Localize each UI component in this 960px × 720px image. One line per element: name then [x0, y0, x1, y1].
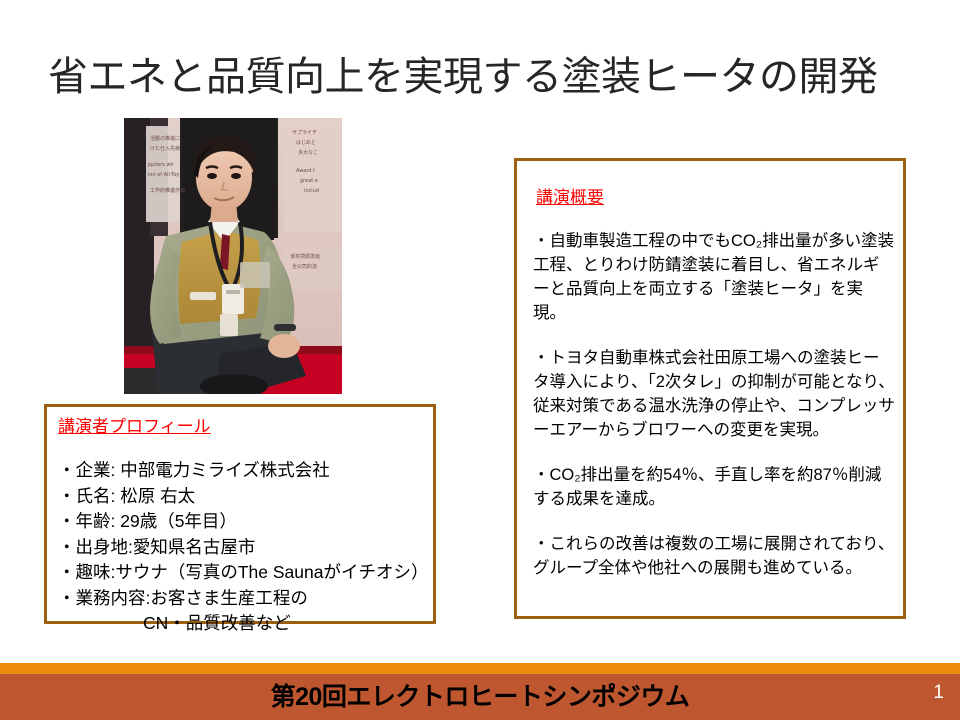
list-item: ・年齢: 29歳（5年目）	[58, 509, 430, 535]
svg-text:ion of All-Toy: ion of All-Toy	[148, 172, 179, 178]
footer-accent-strip	[0, 663, 960, 674]
speaker-photo: サプライチ はじめと 多大なこ Award t great e includ 该…	[124, 118, 342, 394]
list-item: ・業務内容:お客さま生産工程の	[58, 586, 430, 612]
speaker-photo-image: サプライチ はじめと 多大なこ Award t great e includ 该…	[124, 118, 342, 394]
svg-text:はじめと: はじめと	[296, 140, 316, 146]
svg-text:该奖项颁发给: 该奖项颁发给	[290, 253, 320, 260]
footer-title: 第20回エレクトロヒートシンポジウム	[0, 674, 960, 720]
svg-text:Award t: Award t	[296, 168, 315, 174]
list-item: ・企業: 中部電力ミライズ株式会社	[58, 458, 430, 484]
svg-text:多大なこ: 多大なこ	[298, 149, 318, 156]
abstract-paragraph: ・これらの改善は複数の工場に展開されており、グループ全体や他社への展開も進めてい…	[533, 532, 895, 580]
list-item: ・趣味:サウナ（写真のThe Saunaがイチオシ）	[58, 560, 430, 586]
list-item-continuation: CN・品質改善など	[58, 611, 430, 637]
svg-text:ppliers wh: ppliers wh	[148, 162, 174, 168]
abstract-paragraph: ・CO₂排出量を約54％、手直し率を約87％削減する成果を達成。	[533, 463, 895, 511]
svg-text:全公司的流: 全公司的流	[292, 263, 317, 270]
lecture-abstract-heading: 講演概要	[536, 187, 604, 209]
abstract-paragraph: ・トヨタ自動車株式会社田原工場への塗装ヒータ導入により、「2次タレ」の抑制が可能…	[533, 346, 895, 442]
speaker-profile-heading: 講演者プロフィール	[58, 416, 211, 438]
svg-text:活動の推進に: 活動の推進に	[150, 135, 180, 142]
page-number: 1	[933, 682, 944, 704]
lecture-abstract-box: 講演概要 ・自動車製造工程の中でもCO₂排出量が多い塗装工程、とりわけ防錆塗装に…	[514, 158, 906, 619]
svg-text:includ: includ	[304, 188, 319, 194]
speaker-profile-box: 講演者プロフィール ・企業: 中部電力ミライズ株式会社 ・氏名: 松原 右太 ・…	[44, 404, 436, 624]
svg-text:工作的推進作出: 工作的推進作出	[150, 187, 185, 194]
abstract-paragraph: ・自動車製造工程の中でもCO₂排出量が多い塗装工程、とりわけ防錆塗装に着目し、省…	[533, 229, 895, 325]
list-item: ・出身地:愛知県名古屋市	[58, 535, 430, 561]
speaker-profile-list: ・企業: 中部電力ミライズ株式会社 ・氏名: 松原 右太 ・年齢: 29歳（5年…	[58, 458, 430, 637]
list-item: ・氏名: 松原 右太	[58, 484, 430, 510]
slide-title: 省エネと品質向上を実現する塗装ヒータの開発	[48, 52, 918, 102]
svg-text:けた仕入先様: けた仕入先様	[150, 145, 180, 152]
lecture-abstract-body: ・自動車製造工程の中でもCO₂排出量が多い塗装工程、とりわけ防錆塗装に着目し、省…	[533, 229, 895, 580]
svg-text:great e: great e	[300, 178, 318, 184]
svg-text:サプライチ: サプライチ	[292, 130, 317, 136]
